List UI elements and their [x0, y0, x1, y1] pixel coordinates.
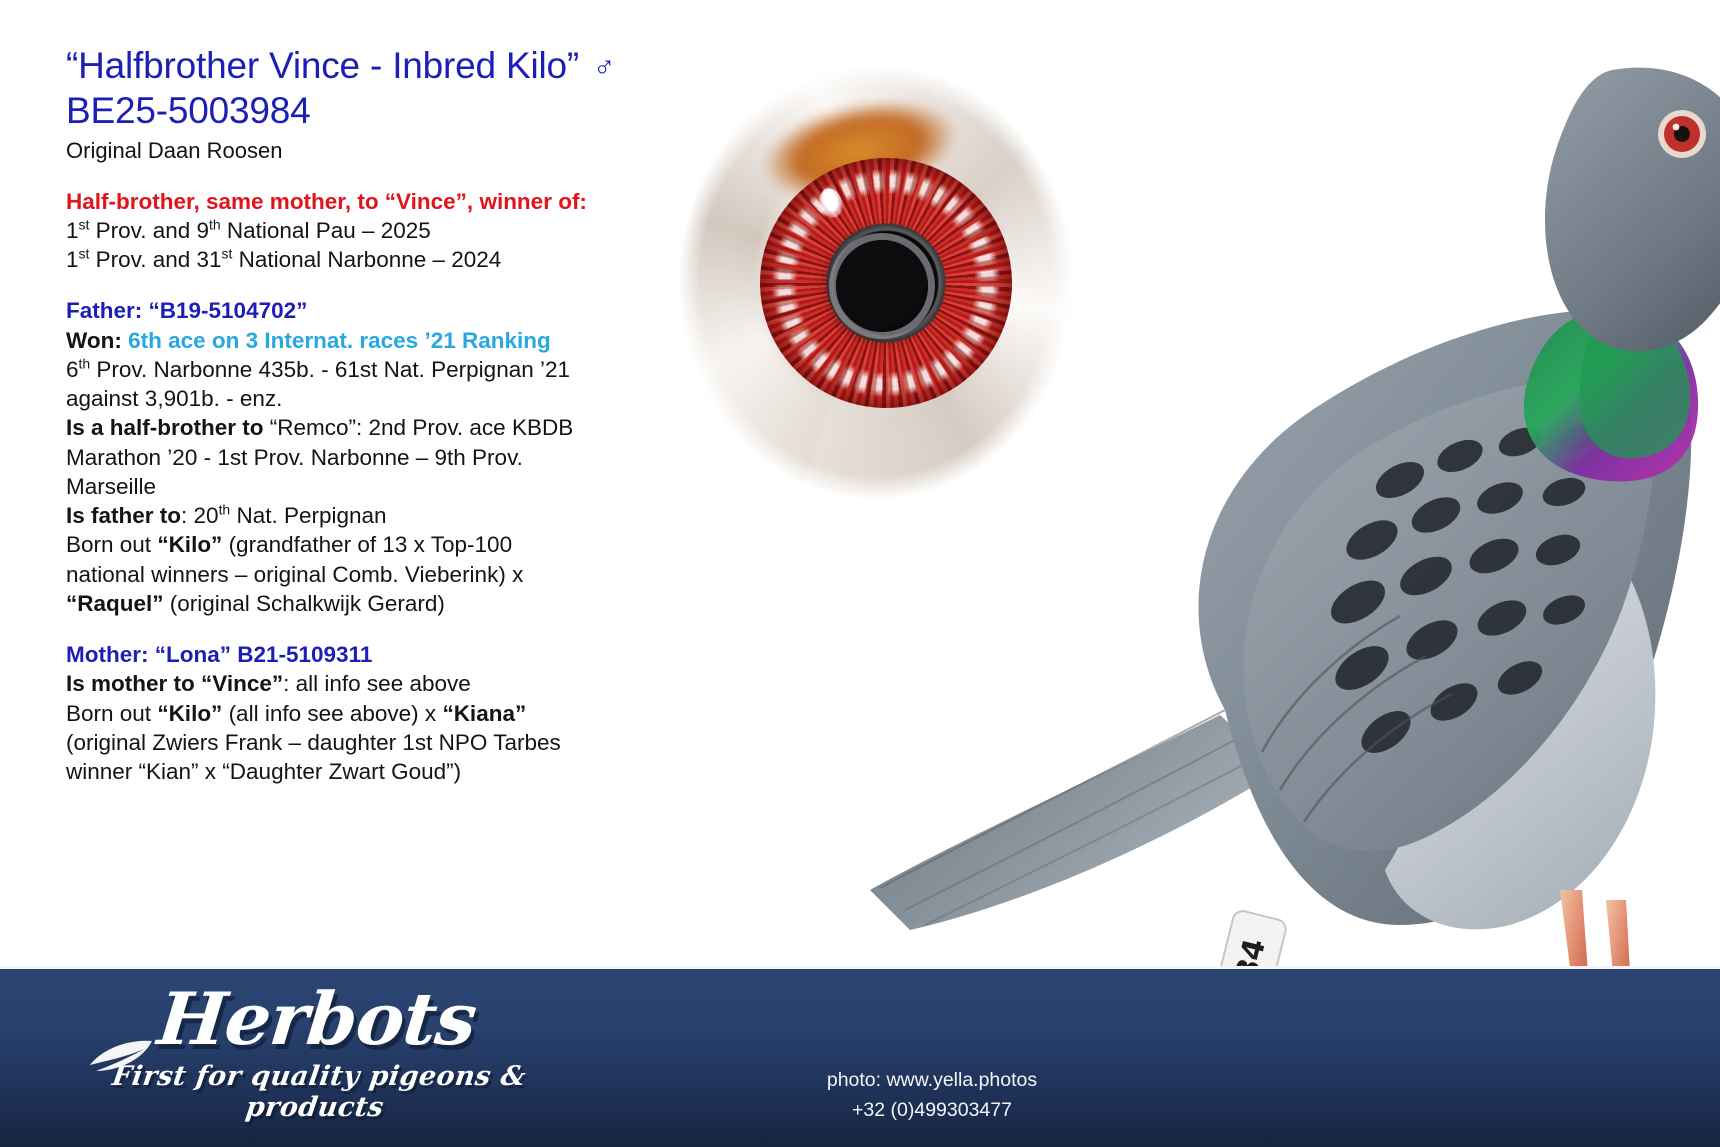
- father-bornout-post: (grandfather of 13 x Top-100: [222, 532, 512, 557]
- father-to-pre: : 20: [181, 503, 219, 528]
- mother-bornout-kilo: “Kilo”: [157, 701, 222, 726]
- result-mid-sup: st: [222, 246, 233, 262]
- mother-bornout-pre: Born out: [66, 701, 157, 726]
- result-rank-sup: st: [79, 216, 90, 232]
- result-post: National Narbonne – 2024: [232, 247, 501, 272]
- father-won-label: Won:: [66, 328, 122, 353]
- photo-credit-site: photo: www.yella.photos: [742, 1065, 1122, 1095]
- father-prov-rank: 6: [66, 357, 79, 382]
- result-mid-sup: th: [209, 216, 221, 232]
- footer-band: Herbots First for quality pigeons & prod…: [0, 966, 1720, 1147]
- brand-name: Herbots: [78, 983, 556, 1055]
- father-halfbrother-label: Is a half-brother to: [66, 415, 264, 440]
- father-bornout-pre: Born out: [66, 532, 157, 557]
- result-mid: Prov. and 31: [89, 247, 221, 272]
- father-to-label: Is father to: [66, 503, 181, 528]
- result-rank: 1: [66, 218, 79, 243]
- father-to-post: Nat. Perpignan: [230, 503, 386, 528]
- mother-bornout-kiana: “Kiana”: [442, 701, 526, 726]
- mother-bornout-mid: (all info see above) x: [222, 701, 442, 726]
- mother-to-text: : all info see above: [283, 671, 471, 696]
- herbots-logo: Herbots First for quality pigeons & prod…: [82, 983, 552, 1133]
- pigeon-pedigree-card: “Halfbrother Vince - Inbred Kilo”♂ BE25-…: [0, 0, 1720, 1147]
- father-prov-sup: th: [79, 355, 91, 371]
- father-prov-text: Prov. Narbonne 435b. - 61st Nat. Perpign…: [90, 357, 570, 382]
- result-post: National Pau – 2025: [221, 218, 431, 243]
- brand-tagline: First for quality pigeons & products: [78, 1061, 557, 1123]
- father-bornout-kilo: “Kilo”: [157, 532, 222, 557]
- result-mid: Prov. and 9: [89, 218, 209, 243]
- father-bornout-raquel: “Raquel”: [66, 591, 164, 616]
- result-rank-sup: st: [79, 246, 90, 262]
- father-bornout-post2: (original Schalkwijk Gerard): [164, 591, 445, 616]
- photo-credit-phone: +32 (0)499303477: [742, 1095, 1122, 1125]
- page-title-text: “Halfbrother Vince - Inbred Kilo”: [66, 45, 579, 86]
- result-rank: 1: [66, 247, 79, 272]
- pigeon-photo: [520, 10, 1720, 1070]
- mother-to-label: Is mother to “Vince”: [66, 671, 283, 696]
- father-won-value: 6th ace on 3 Internat. races ’21 Ranking: [128, 328, 551, 353]
- father-to-sup: th: [219, 502, 231, 518]
- photo-credit: photo: www.yella.photos +32 (0)499303477: [742, 1065, 1122, 1125]
